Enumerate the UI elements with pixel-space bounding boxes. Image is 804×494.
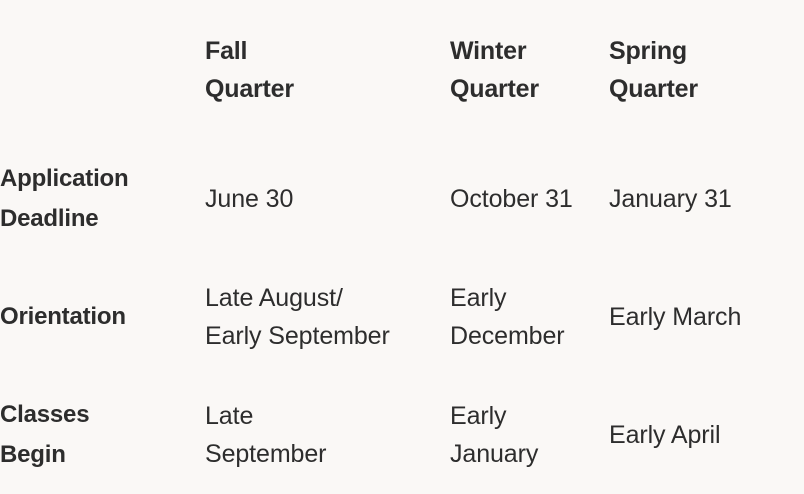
cell-classes-begin-fall-line2: September: [205, 435, 450, 473]
row-label-classes-begin: Classes Begin: [0, 376, 205, 494]
row-label-application-deadline-line2: Deadline: [0, 199, 205, 239]
column-header-spring-line2: Quarter: [609, 70, 804, 108]
cell-application-deadline-spring: January 31: [609, 140, 804, 258]
cell-application-deadline-spring-line1: January 31: [609, 180, 804, 218]
row-label-classes-begin-line2: Begin: [0, 435, 205, 475]
column-header-spring-line1: Spring: [609, 32, 804, 70]
row-label-classes-begin-line1: Classes: [0, 395, 205, 435]
row-label-orientation-line1: Orientation: [0, 297, 205, 337]
cell-classes-begin-fall: Late September: [205, 376, 450, 494]
cell-orientation-winter-line1: Early: [450, 279, 609, 317]
cell-classes-begin-winter-line1: Early: [450, 397, 609, 435]
cell-classes-begin-winter: Early January: [450, 376, 609, 494]
column-header-winter-line2: Quarter: [450, 70, 609, 108]
cell-orientation-fall: Late August/ Early September: [205, 258, 450, 376]
cell-classes-begin-spring-line1: Early April: [609, 416, 804, 454]
column-header-winter: Winter Quarter: [450, 0, 609, 140]
academic-quarter-schedule-table: Fall Quarter Winter Quarter Spring Quart…: [0, 0, 804, 494]
cell-orientation-spring: Early March: [609, 258, 804, 376]
cell-orientation-winter-line2: December: [450, 317, 609, 355]
column-header-winter-line1: Winter: [450, 32, 609, 70]
table-header-row: Fall Quarter Winter Quarter Spring Quart…: [0, 0, 804, 140]
cell-application-deadline-fall-line1: June 30: [205, 180, 450, 218]
cell-classes-begin-spring: Early April: [609, 376, 804, 494]
column-header-fall-line1: Fall: [205, 32, 450, 70]
cell-application-deadline-winter: October 31: [450, 140, 609, 258]
cell-classes-begin-fall-line1: Late: [205, 397, 450, 435]
row-label-application-deadline-line1: Application: [0, 159, 205, 199]
cell-application-deadline-winter-line1: October 31: [450, 180, 609, 218]
row-label-orientation: Orientation: [0, 258, 205, 376]
cell-orientation-fall-line1: Late August/: [205, 279, 450, 317]
table-row: Classes Begin Late September Early Janua…: [0, 376, 804, 494]
header-corner-cell: [0, 0, 205, 140]
cell-orientation-winter: Early December: [450, 258, 609, 376]
column-header-spring: Spring Quarter: [609, 0, 804, 140]
column-header-fall: Fall Quarter: [205, 0, 450, 140]
cell-application-deadline-fall: June 30: [205, 140, 450, 258]
column-header-fall-line2: Quarter: [205, 70, 450, 108]
table-row: Orientation Late August/ Early September…: [0, 258, 804, 376]
row-label-application-deadline: Application Deadline: [0, 140, 205, 258]
cell-classes-begin-winter-line2: January: [450, 435, 609, 473]
cell-orientation-spring-line1: Early March: [609, 298, 804, 336]
cell-orientation-fall-line2: Early September: [205, 317, 450, 355]
table-row: Application Deadline June 30 October 31 …: [0, 140, 804, 258]
